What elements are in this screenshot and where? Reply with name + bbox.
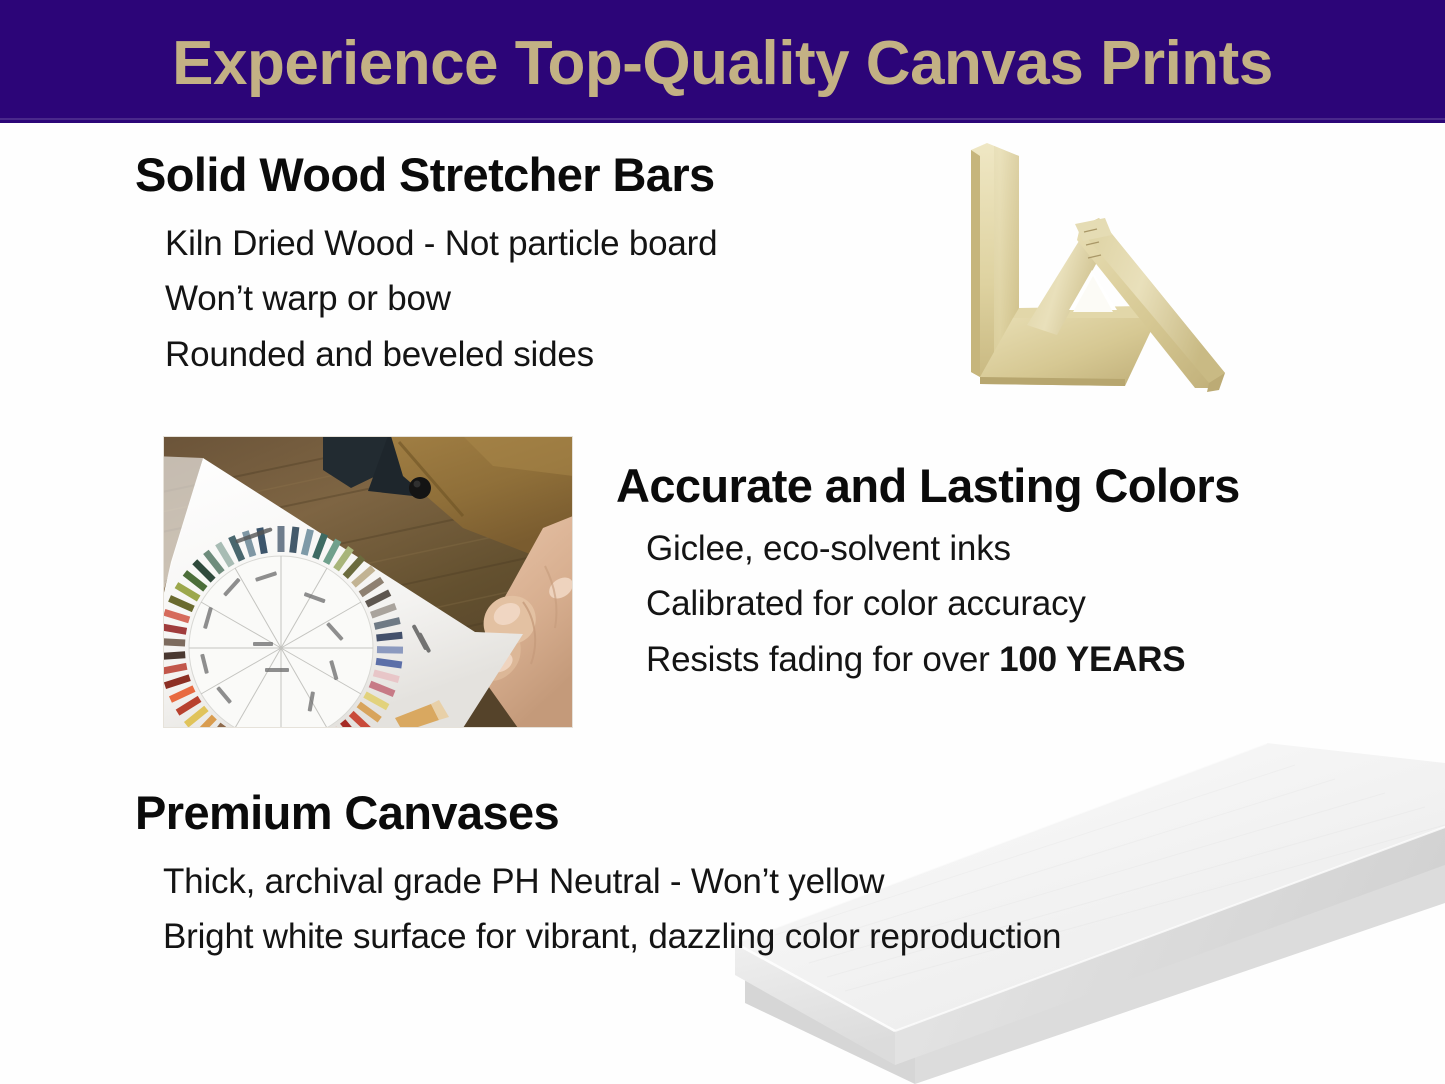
section-heading-colors: Accurate and Lasting Colors: [616, 462, 1240, 509]
wood-stretcher-bars-image: [947, 140, 1237, 405]
bullet-list-wood: Kiln Dried Wood - Not particle board Won…: [165, 216, 717, 382]
section-heading-wood: Solid Wood Stretcher Bars: [135, 151, 717, 198]
section-solid-wood-stretcher-bars: Solid Wood Stretcher Bars Kiln Dried Woo…: [135, 151, 717, 382]
bullet-item: Thick, archival grade PH Neutral - Won’t…: [163, 854, 1061, 909]
bullet-list-colors: Giclee, eco-solvent inks Calibrated for …: [646, 521, 1240, 687]
section-heading-canvases: Premium Canvases: [135, 789, 1061, 836]
emphasis-100-years: 100 YEARS: [999, 640, 1185, 679]
section-premium-canvases: Premium Canvases Thick, archival grade P…: [135, 789, 1061, 965]
bullet-item: Rounded and beveled sides: [165, 327, 717, 382]
color-wheel-image: [163, 436, 573, 728]
bullet-item: Calibrated for color accuracy: [646, 576, 1240, 631]
bullet-list-canvases: Thick, archival grade PH Neutral - Won’t…: [163, 854, 1061, 965]
section-accurate-lasting-colors: Accurate and Lasting Colors Giclee, eco-…: [616, 462, 1240, 687]
bullet-item-with-emphasis: Resists fading for over 100 YEARS: [646, 632, 1240, 687]
bullet-item: Kiln Dried Wood - Not particle board: [165, 216, 717, 271]
bullet-text: Resists fading for over: [646, 640, 999, 679]
bullet-item: Won’t warp or bow: [165, 271, 717, 326]
bullet-item: Bright white surface for vibrant, dazzli…: [163, 909, 1061, 964]
bullet-item: Giclee, eco-solvent inks: [646, 521, 1240, 576]
page-title: Experience Top-Quality Canvas Prints: [0, 0, 1445, 123]
header-banner: Experience Top-Quality Canvas Prints: [0, 0, 1445, 123]
